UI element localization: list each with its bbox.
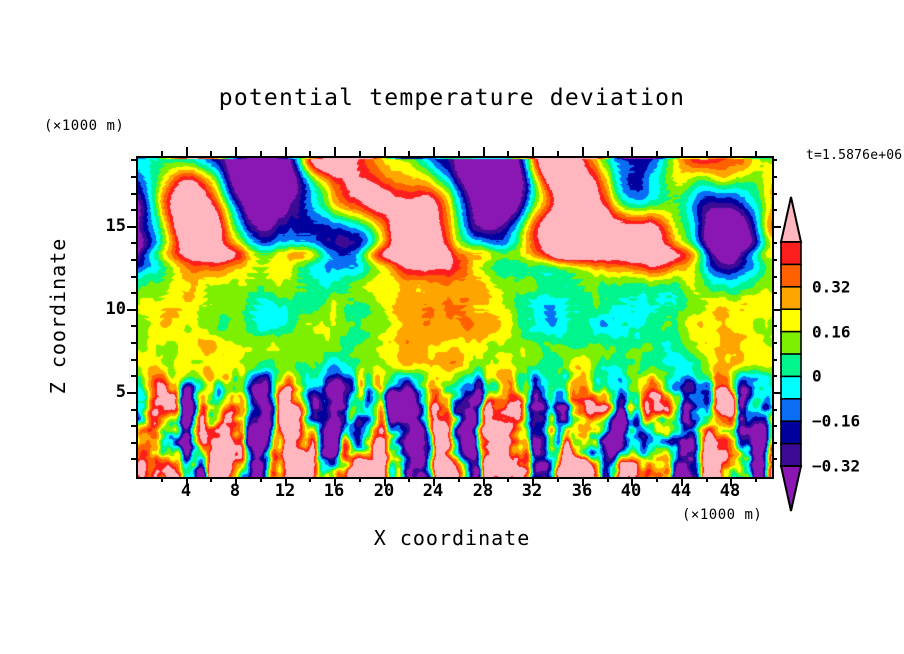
y-minor-tick <box>772 442 777 444</box>
colorbar-band <box>781 444 801 467</box>
y-minor-tick <box>772 458 777 460</box>
y-minor-tick <box>772 242 777 244</box>
y-minor-tick <box>131 375 136 377</box>
page-title: potential temperature deviation <box>0 85 904 111</box>
x-minor-tick <box>656 151 658 156</box>
y-minor-tick <box>772 259 777 261</box>
x-minor-tick <box>507 151 509 156</box>
y-axis-title: Z coordinate <box>46 238 70 395</box>
y-axis-unit-label: (×1000 m) <box>44 118 124 134</box>
y-tick-label: 10 <box>106 299 126 319</box>
x-tick <box>285 147 287 156</box>
colorbar <box>778 196 804 512</box>
x-axis-title: X coordinate <box>0 526 904 550</box>
x-minor-tick <box>309 477 311 482</box>
x-tick-label: 44 <box>671 481 691 501</box>
x-minor-tick <box>260 477 262 482</box>
x-minor-tick <box>706 151 708 156</box>
y-tick <box>127 226 136 228</box>
y-minor-tick <box>772 342 777 344</box>
x-minor-tick <box>706 477 708 482</box>
x-minor-tick <box>359 151 361 156</box>
contour-field <box>138 158 772 477</box>
colorbar-tick-label: −0.16 <box>812 412 860 431</box>
x-minor-tick <box>210 151 212 156</box>
contour-plot-area <box>136 156 774 479</box>
x-tick <box>235 147 237 156</box>
x-tick-label: 48 <box>720 481 740 501</box>
y-minor-tick <box>131 342 136 344</box>
x-tick <box>730 147 732 156</box>
y-minor-tick <box>131 325 136 327</box>
x-tick-label: 24 <box>423 481 443 501</box>
colorbar-tick-label: 0.32 <box>812 277 851 296</box>
y-minor-tick <box>772 176 777 178</box>
x-minor-tick <box>161 151 163 156</box>
colorbar-under-arrow <box>781 466 801 511</box>
y-minor-tick <box>131 442 136 444</box>
y-minor-tick <box>131 292 136 294</box>
colorbar-band <box>781 264 801 287</box>
x-tick-label: 32 <box>522 481 542 501</box>
y-minor-tick <box>131 359 136 361</box>
y-minor-tick <box>131 276 136 278</box>
x-tick-label: 4 <box>181 481 191 501</box>
y-tick-label: 15 <box>106 216 126 236</box>
colorbar-tick-label: 0.16 <box>812 322 851 341</box>
x-tick-label: 16 <box>324 481 344 501</box>
x-minor-tick <box>507 477 509 482</box>
x-tick-label: 12 <box>275 481 295 501</box>
x-minor-tick <box>161 477 163 482</box>
x-tick <box>186 147 188 156</box>
y-minor-tick <box>131 425 136 427</box>
y-minor-tick <box>131 209 136 211</box>
x-tick <box>433 147 435 156</box>
colorbar-band <box>781 376 801 399</box>
x-minor-tick <box>557 477 559 482</box>
x-minor-tick <box>458 151 460 156</box>
x-minor-tick <box>557 151 559 156</box>
x-tick-label: 28 <box>473 481 493 501</box>
figure-canvas: potential temperature deviation (×1000 m… <box>0 0 904 654</box>
y-minor-tick <box>131 176 136 178</box>
y-minor-tick <box>131 242 136 244</box>
x-minor-tick <box>607 477 609 482</box>
colorbar-band <box>781 399 801 422</box>
y-minor-tick <box>772 359 777 361</box>
y-minor-tick <box>131 159 136 161</box>
x-axis-unit-label: (×1000 m) <box>682 507 762 523</box>
y-minor-tick <box>772 425 777 427</box>
y-tick-label: 5 <box>116 382 126 402</box>
x-minor-tick <box>260 151 262 156</box>
colorbar-band <box>781 287 801 310</box>
x-minor-tick <box>210 477 212 482</box>
y-minor-tick <box>772 209 777 211</box>
x-minor-tick <box>309 151 311 156</box>
y-minor-tick <box>131 409 136 411</box>
y-tick <box>127 309 136 311</box>
x-tick <box>483 147 485 156</box>
x-minor-tick <box>408 151 410 156</box>
y-minor-tick <box>772 292 777 294</box>
y-minor-tick <box>131 458 136 460</box>
x-minor-tick <box>458 477 460 482</box>
x-tick <box>582 147 584 156</box>
x-tick-label: 36 <box>572 481 592 501</box>
x-tick <box>532 147 534 156</box>
y-minor-tick <box>772 159 777 161</box>
y-minor-tick <box>772 325 777 327</box>
x-minor-tick <box>755 151 757 156</box>
x-tick <box>681 147 683 156</box>
colorbar-band <box>781 354 801 377</box>
y-minor-tick <box>772 375 777 377</box>
x-tick-label: 40 <box>621 481 641 501</box>
y-minor-tick <box>772 409 777 411</box>
colorbar-band <box>781 309 801 332</box>
y-minor-tick <box>131 259 136 261</box>
colorbar-over-arrow <box>781 197 801 242</box>
x-tick <box>631 147 633 156</box>
x-tick-label: 20 <box>374 481 394 501</box>
colorbar-tick-label: 0 <box>812 367 822 386</box>
x-minor-tick <box>656 477 658 482</box>
x-tick <box>334 147 336 156</box>
y-minor-tick <box>772 276 777 278</box>
y-minor-tick <box>772 193 777 195</box>
colorbar-tick-label: −0.32 <box>812 457 860 476</box>
y-minor-tick <box>131 193 136 195</box>
x-minor-tick <box>607 151 609 156</box>
x-minor-tick <box>755 477 757 482</box>
colorbar-band <box>781 242 801 265</box>
y-tick <box>127 392 136 394</box>
time-annotation: t=1.5876e+06 <box>806 148 902 163</box>
colorbar-band <box>781 332 801 355</box>
x-tick <box>384 147 386 156</box>
colorbar-svg <box>778 196 804 512</box>
colorbar-band <box>781 421 801 444</box>
x-minor-tick <box>359 477 361 482</box>
x-tick-label: 8 <box>230 481 240 501</box>
x-minor-tick <box>408 477 410 482</box>
